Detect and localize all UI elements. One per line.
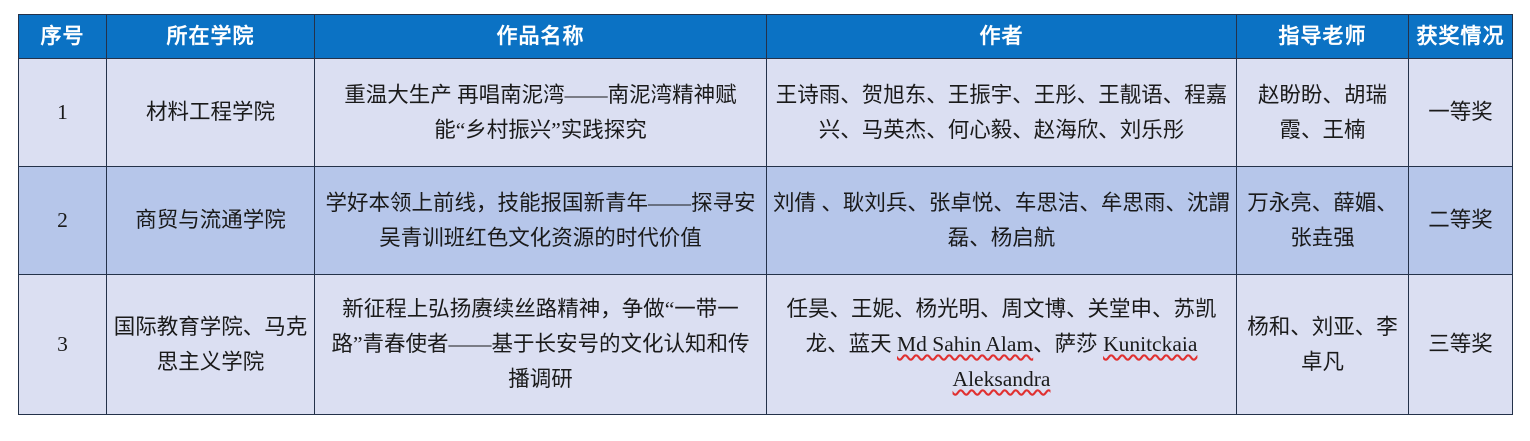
- advisor-value: 赵盼盼、胡瑞霞、王楠: [1243, 78, 1402, 148]
- table-body: 1 材料工程学院 重温大生产 再唱南泥湾——南泥湾精神赋能“乡村振兴”实践探究 …: [19, 59, 1513, 415]
- cell-authors: 刘倩 、耿刘兵、张卓悦、车思洁、牟思雨、沈謂磊、杨启航: [767, 167, 1237, 275]
- award-value: 一等奖: [1415, 95, 1506, 130]
- cell-authors: 任昊、王妮、杨光明、周文博、关堂申、苏凯龙、蓝天 Md Sahin Alam、萨…: [767, 275, 1237, 415]
- cell-title: 重温大生产 再唱南泥湾——南泥湾精神赋能“乡村振兴”实践探究: [315, 59, 767, 167]
- column-header-index: 序号: [19, 15, 107, 59]
- cell-award: 二等奖: [1409, 167, 1513, 275]
- cell-college: 材料工程学院: [107, 59, 315, 167]
- table-row: 2 商贸与流通学院 学好本领上前线，技能报国新青年——探寻安吴青训班红色文化资源…: [19, 167, 1513, 275]
- cell-college: 商贸与流通学院: [107, 167, 315, 275]
- index-value: 3: [25, 327, 100, 362]
- column-header-award: 获奖情况: [1409, 15, 1513, 59]
- cell-index: 2: [19, 167, 107, 275]
- cell-index: 1: [19, 59, 107, 167]
- cell-title: 新征程上弘扬赓续丝路精神，争做“一带一路”青春使者——基于长安号的文化认知和传播…: [315, 275, 767, 415]
- cell-authors: 王诗雨、贺旭东、王振宇、王彤、王靓语、程嘉兴、马英杰、何心毅、赵海欣、刘乐彤: [767, 59, 1237, 167]
- cell-advisor: 万永亮、薛媚、张垚强: [1237, 167, 1409, 275]
- cell-college: 国际教育学院、马克思主义学院: [107, 275, 315, 415]
- table-header: 序号 所在学院 作品名称 作者 指导老师 获奖情况: [19, 15, 1513, 59]
- award-table-container: 序号 所在学院 作品名称 作者 指导老师 获奖情况 1 材料工程学院 重温大生产…: [0, 0, 1530, 415]
- award-value: 三等奖: [1415, 327, 1506, 362]
- advisor-value: 杨和、刘亚、李卓凡: [1243, 310, 1402, 380]
- authors-value: 刘倩 、耿刘兵、张卓悦、车思洁、牟思雨、沈謂磊、杨启航: [773, 186, 1230, 256]
- header-row: 序号 所在学院 作品名称 作者 指导老师 获奖情况: [19, 15, 1513, 59]
- cell-title: 学好本领上前线，技能报国新青年——探寻安吴青训班红色文化资源的时代价值: [315, 167, 767, 275]
- column-header-title: 作品名称: [315, 15, 767, 59]
- authors-value: 任昊、王妮、杨光明、周文博、关堂申、苏凯龙、蓝天 Md Sahin Alam、萨…: [773, 292, 1230, 396]
- table-row: 3 国际教育学院、马克思主义学院 新征程上弘扬赓续丝路精神，争做“一带一路”青春…: [19, 275, 1513, 415]
- cell-advisor: 杨和、刘亚、李卓凡: [1237, 275, 1409, 415]
- advisor-value: 万永亮、薛媚、张垚强: [1243, 186, 1402, 256]
- title-value: 重温大生产 再唱南泥湾——南泥湾精神赋能“乡村振兴”实践探究: [321, 78, 760, 148]
- college-value: 国际教育学院、马克思主义学院: [113, 310, 308, 380]
- author-name-run: 、萨莎: [1033, 332, 1103, 356]
- misspelled-name: Md Sahin Alam: [897, 332, 1033, 356]
- table-row: 1 材料工程学院 重温大生产 再唱南泥湾——南泥湾精神赋能“乡村振兴”实践探究 …: [19, 59, 1513, 167]
- cell-award: 三等奖: [1409, 275, 1513, 415]
- award-value: 二等奖: [1415, 203, 1506, 238]
- title-value: 新征程上弘扬赓续丝路精神，争做“一带一路”青春使者——基于长安号的文化认知和传播…: [321, 292, 760, 396]
- index-value: 2: [25, 203, 100, 238]
- award-table: 序号 所在学院 作品名称 作者 指导老师 获奖情况 1 材料工程学院 重温大生产…: [18, 14, 1513, 415]
- cell-advisor: 赵盼盼、胡瑞霞、王楠: [1237, 59, 1409, 167]
- column-header-college: 所在学院: [107, 15, 315, 59]
- authors-value: 王诗雨、贺旭东、王振宇、王彤、王靓语、程嘉兴、马英杰、何心毅、赵海欣、刘乐彤: [773, 78, 1230, 148]
- cell-index: 3: [19, 275, 107, 415]
- college-value: 材料工程学院: [113, 95, 308, 130]
- cell-award: 一等奖: [1409, 59, 1513, 167]
- column-header-advisor: 指导老师: [1237, 15, 1409, 59]
- column-header-authors: 作者: [767, 15, 1237, 59]
- index-value: 1: [25, 95, 100, 130]
- college-value: 商贸与流通学院: [113, 203, 308, 238]
- title-value: 学好本领上前线，技能报国新青年——探寻安吴青训班红色文化资源的时代价值: [321, 186, 760, 256]
